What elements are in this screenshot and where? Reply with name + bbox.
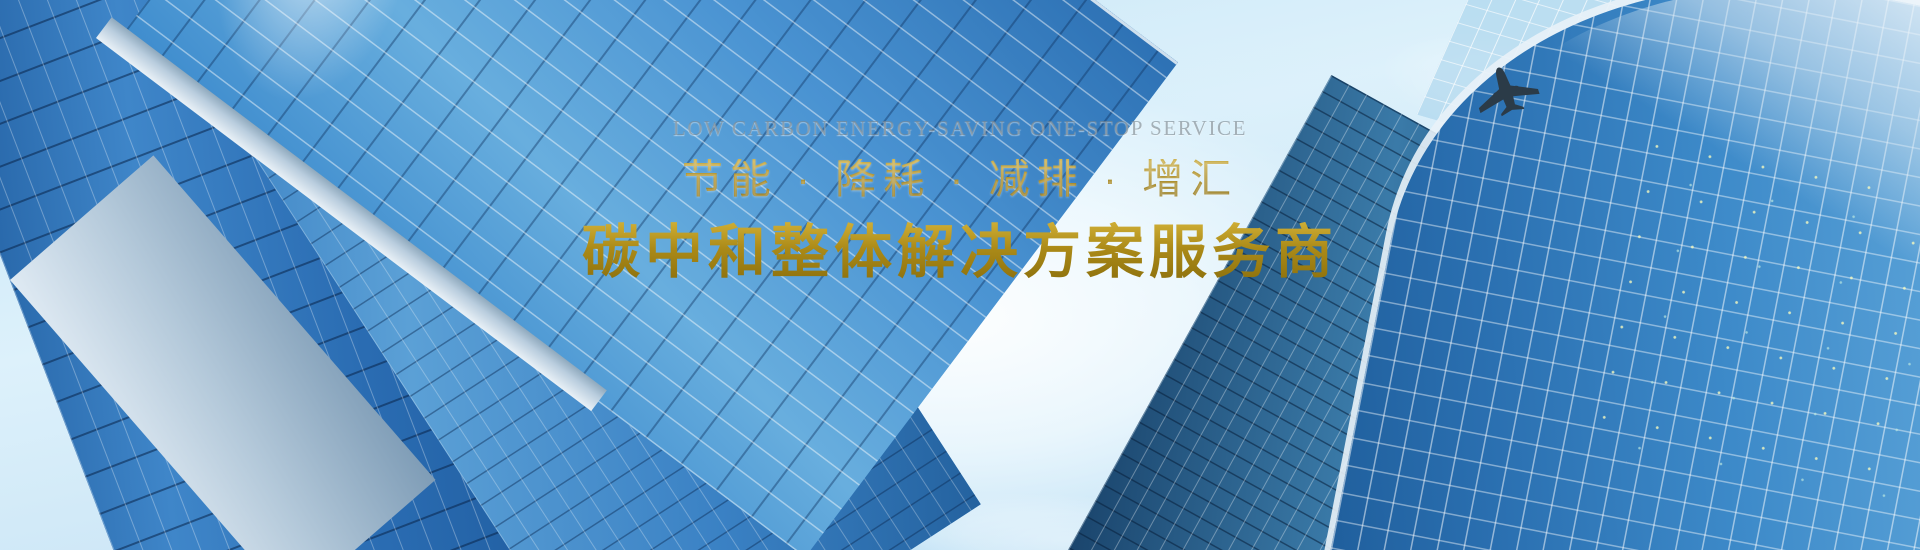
- hero-banner: LOW CARBON ENERGY-SAVING ONE-STOP SERVIC…: [0, 0, 1920, 550]
- banner-eyebrow-text: LOW CARBON ENERGY-SAVING ONE-STOP SERVIC…: [0, 118, 1920, 139]
- banner-text-block: LOW CARBON ENERGY-SAVING ONE-STOP SERVIC…: [0, 118, 1920, 285]
- banner-subheadline: 节能 · 降耗 · 减排 · 增汇: [0, 159, 1920, 200]
- banner-headline: 碳中和整体解决方案服务商: [0, 222, 1920, 285]
